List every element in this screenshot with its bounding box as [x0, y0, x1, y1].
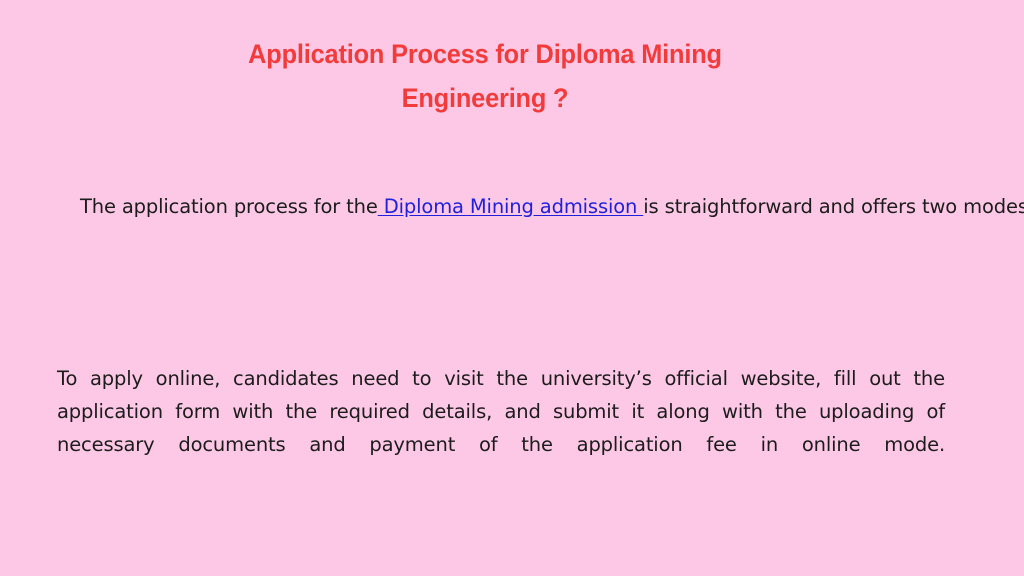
diploma-mining-admission-link[interactable]: Diploma Mining admission [378, 195, 644, 218]
paragraph-one-text-before-link: The application process for the [80, 195, 378, 218]
paragraph-apply-online: To apply online, candidates need to visi… [57, 362, 945, 494]
page-title: Application Process for Diploma Mining E… [140, 32, 830, 120]
paragraph-application-process: The application process for the Diploma … [80, 190, 946, 223]
paragraph-one-text-after-link: is straightforward and offers two modes … [643, 195, 1024, 218]
title-line-1: Application Process for Diploma Mining [161, 32, 810, 76]
slide-canvas: Application Process for Diploma Mining E… [0, 0, 1024, 576]
title-line-2: Engineering ? [161, 76, 810, 120]
